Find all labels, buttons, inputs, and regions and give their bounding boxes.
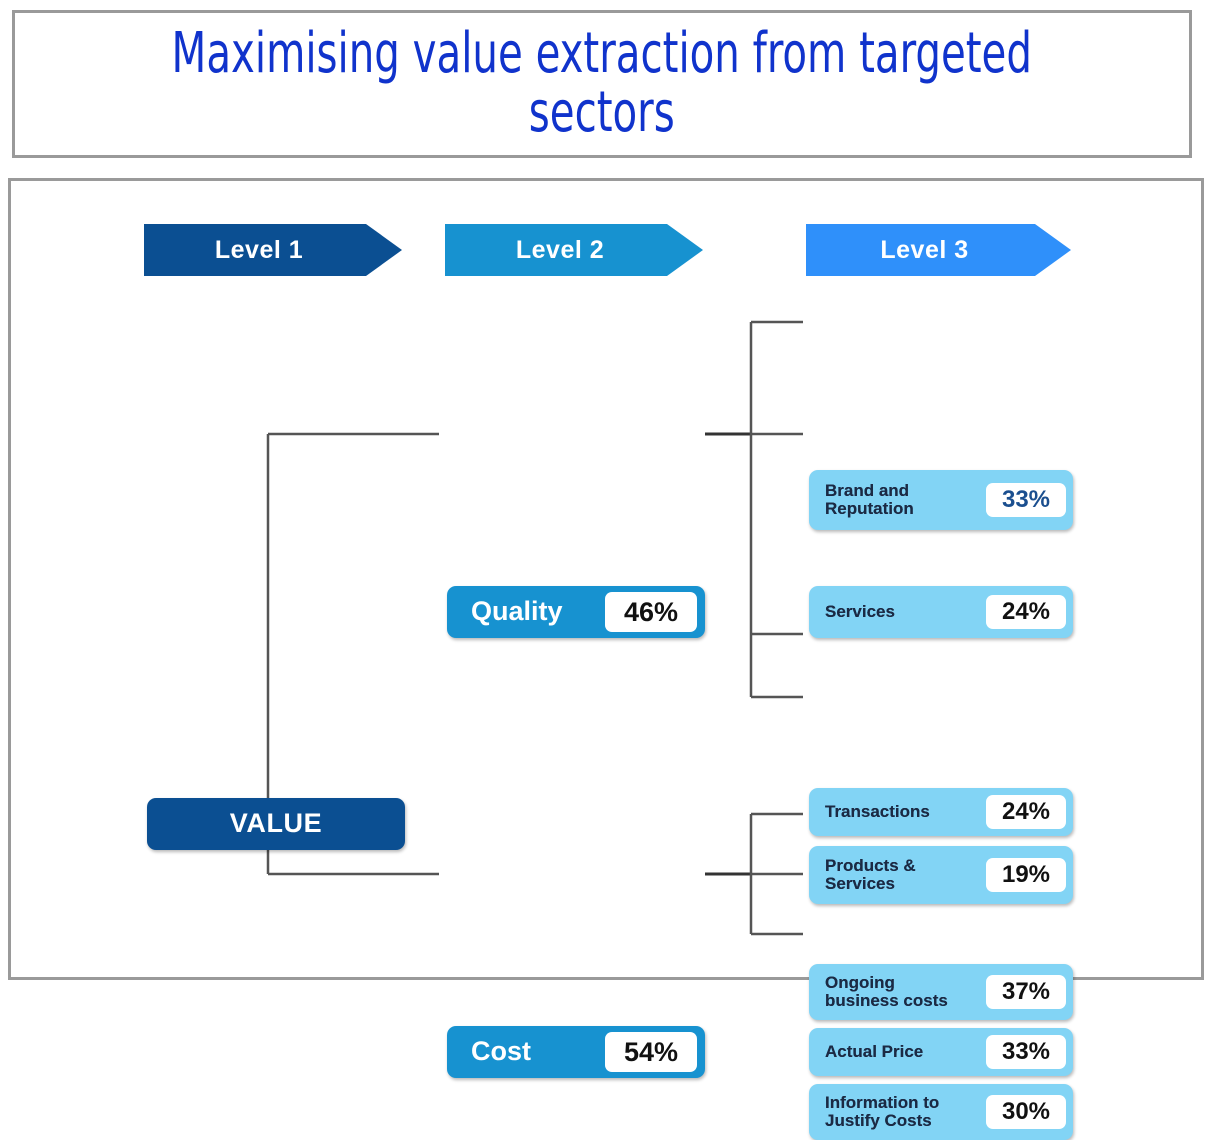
node-cost[interactable]: Cost 54% — [447, 1026, 705, 1078]
node-information-to-justify-costs-label: Information to Justify Costs — [825, 1094, 939, 1131]
node-information-to-justify-costs[interactable]: Information to Justify Costs 30% — [809, 1084, 1073, 1140]
node-services-label: Services — [825, 603, 895, 621]
node-information-to-justify-costs-value: 30% — [986, 1095, 1066, 1129]
diagram-panel: Level 1 Level 2 Level 3 VALUE Quality 46… — [8, 178, 1204, 980]
node-actual-price-value: 33% — [986, 1035, 1066, 1069]
diagram-canvas: Level 1 Level 2 Level 3 VALUE Quality 46… — [11, 181, 1201, 977]
page-title: Maximising value extraction from targete… — [172, 25, 1032, 143]
level-header-2: Level 2 — [445, 224, 703, 276]
node-products-and-services-label: Products & Services — [825, 857, 916, 894]
node-actual-price[interactable]: Actual Price 33% — [809, 1028, 1073, 1076]
level-header-3: Level 3 — [806, 224, 1071, 276]
node-cost-label: Cost — [471, 1037, 531, 1066]
level-header-1-label: Level 1 — [215, 236, 303, 265]
node-ongoing-business-costs-value: 37% — [986, 975, 1066, 1009]
node-services-value: 24% — [986, 595, 1066, 629]
node-brand-and-reputation-value: 33% — [986, 483, 1066, 517]
node-brand-and-reputation-label: Brand and Reputation — [825, 482, 914, 519]
node-quality-value: 46% — [605, 592, 697, 632]
node-ongoing-business-costs-label: Ongoing business costs — [825, 974, 948, 1011]
level-header-2-label: Level 2 — [516, 236, 604, 265]
node-cost-value: 54% — [605, 1032, 697, 1072]
node-value[interactable]: VALUE — [147, 798, 405, 850]
node-ongoing-business-costs[interactable]: Ongoing business costs 37% — [809, 964, 1073, 1020]
node-brand-and-reputation[interactable]: Brand and Reputation 33% — [809, 470, 1073, 530]
node-actual-price-label: Actual Price — [825, 1043, 923, 1061]
node-transactions-label: Transactions — [825, 803, 930, 821]
node-value-label: VALUE — [230, 809, 323, 838]
node-products-and-services[interactable]: Products & Services 19% — [809, 846, 1073, 904]
title-panel: Maximising value extraction from targete… — [12, 10, 1192, 158]
node-products-and-services-value: 19% — [986, 858, 1066, 892]
node-services[interactable]: Services 24% — [809, 586, 1073, 638]
node-quality[interactable]: Quality 46% — [447, 586, 705, 638]
node-transactions-value: 24% — [986, 795, 1066, 829]
level-header-1: Level 1 — [144, 224, 402, 276]
node-quality-label: Quality — [471, 597, 563, 626]
level-header-3-label: Level 3 — [880, 236, 968, 265]
node-transactions[interactable]: Transactions 24% — [809, 788, 1073, 836]
